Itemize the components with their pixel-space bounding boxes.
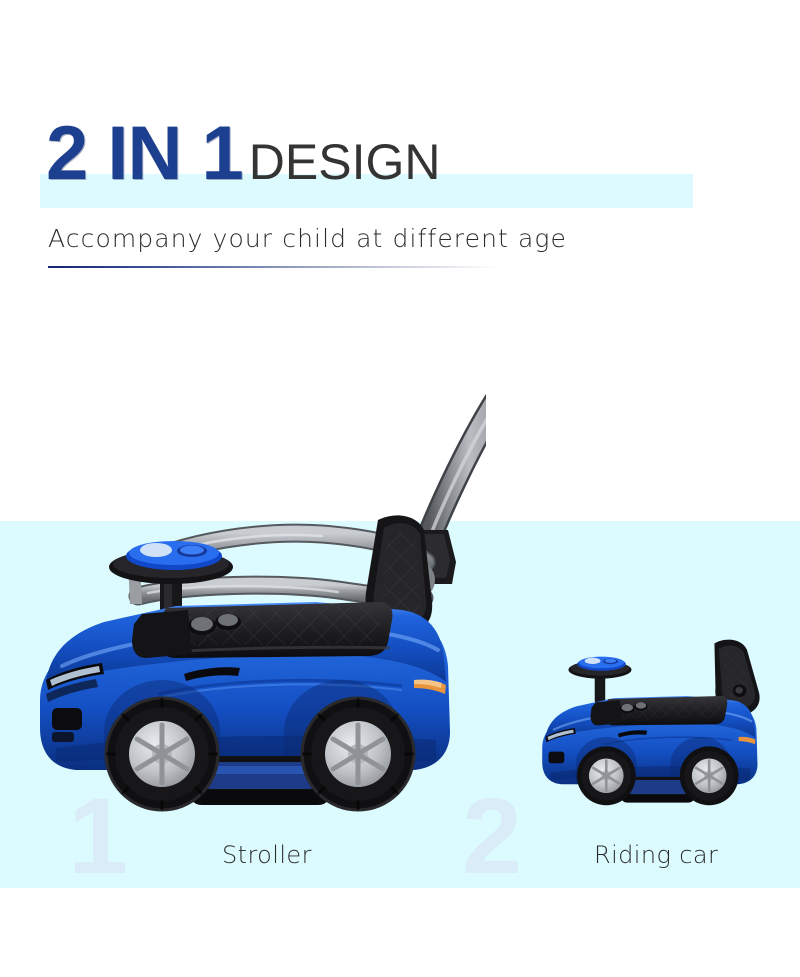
rear-wheel-small [680,746,739,805]
footer-whitespace [0,888,800,977]
rear-wheel [302,698,414,810]
headline-sub-text: DESIGN [249,134,441,190]
front-wheel-small [577,746,636,805]
subtitle-text: Accompany your child at different age [48,224,567,253]
car-seat [132,602,393,658]
page-title: 2 IN 1DESIGN [46,116,440,192]
product-image-riding-car [528,612,778,822]
product-caption-riding-car: Riding car [594,841,718,869]
product-caption-stroller: Stroller [222,841,312,869]
steering-wheel-small [568,657,631,704]
product-image-stroller [16,262,486,832]
car-seat-small [591,696,728,725]
front-wheel [106,698,218,810]
headline-main-text: 2 IN 1 [46,111,243,196]
